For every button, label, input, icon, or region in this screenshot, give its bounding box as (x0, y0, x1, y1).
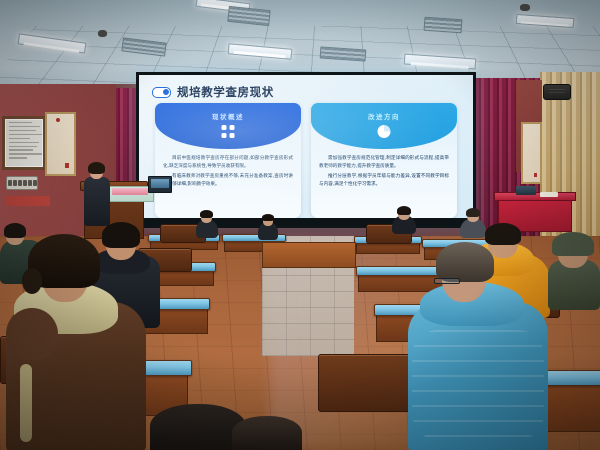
attendee-black-coat-2 (196, 210, 218, 236)
card-paragraph: 有临床教师对教学查房重视不够,未充分准备教案,查房时讲解不够详细,影响教学效果。 (163, 173, 293, 190)
presenter-laptop (148, 176, 172, 193)
calligraphy-scroll-right (521, 122, 542, 184)
aisle-step (262, 242, 356, 268)
attendee-back-center (258, 214, 278, 238)
toggle-pill-icon (152, 87, 171, 98)
wall-speaker-right (543, 84, 571, 100)
attendee-puffer-quilting (412, 330, 544, 440)
attendee-hair (436, 242, 494, 282)
attendee-olive-cap (548, 236, 600, 306)
attendee-hair (200, 210, 213, 218)
attendee-hood-outer (6, 308, 58, 360)
card-body: 需加强教学查房规范化管理,制定详细的形式与流程,提高带教老师的教学能力,提升教学… (319, 155, 449, 191)
card-paragraph: 目前中医规培教学查房存在部分问题,如部分教学查房形式化,缺乏深度与系统性,导致学… (163, 155, 293, 172)
attendee-coat-stripe (20, 364, 32, 442)
attendee-brown-coat (6, 246, 146, 450)
attendee-hair (4, 223, 26, 238)
attendee-black-right (392, 206, 416, 232)
card-header-band: 改进方向 (311, 103, 457, 149)
pie-chart-icon (378, 125, 391, 138)
ceiling-speaker (98, 30, 107, 37)
lectern-banner (112, 188, 148, 195)
attendee-hair (102, 222, 140, 248)
card-body: 目前中医规培教学查房存在部分问题,如部分教学查房形式化,缺乏深度与系统性,导致学… (163, 155, 293, 191)
slide-card-current-status: 现状概述 目前中医规培教学查房存在部分问题,如部分教学查房形式化,缺乏深度与系统… (155, 103, 301, 218)
attendee-hair (466, 208, 480, 217)
foreground-head-center (232, 416, 302, 450)
ceiling-sprinkler (520, 4, 530, 11)
card-paragraph: 推行分层教学,根据学员年级与能力差异,设置不同教学目标与内容,满足个性化学习需求… (319, 173, 449, 190)
photo-scene: 规培教学查房现状 现状概述 目前中医规培教学查房存在部分问题,如部分教学查房形式… (0, 0, 600, 450)
speaker-at-podium (84, 164, 110, 226)
back-table-papers (540, 192, 558, 197)
eyeglasses-icon (434, 278, 460, 284)
four-dot-grid-icon (222, 125, 235, 138)
av-control-panel[interactable] (6, 176, 38, 190)
attendee-hair-bun (22, 268, 42, 294)
ceiling-vent-2 (227, 6, 270, 26)
card-header-label: 改进方向 (311, 111, 457, 121)
ceiling-vent-4 (424, 17, 463, 34)
slide-title-row: 规培教学查房现状 (152, 84, 274, 100)
notice-board (2, 116, 46, 170)
attendee-hair (397, 206, 411, 215)
presentation-slide: 规培教学查房现状 现状概述 目前中医规培教学查房存在部分问题,如部分教学查房形式… (139, 75, 473, 218)
card-header-band: 现状概述 (155, 103, 301, 149)
wall-red-plaque (6, 196, 50, 206)
calligraphy-scroll-left (45, 112, 76, 176)
attendee-hair (262, 214, 274, 221)
slide-title: 规培教学查房现状 (177, 84, 274, 100)
presenter-body (84, 177, 110, 226)
projection-screen: 规培教学查房现状 现状概述 目前中医规培教学查房存在部分问题,如部分教学查房形式… (136, 72, 476, 228)
attendee-hair (485, 223, 521, 245)
back-table-laptop (516, 186, 536, 195)
card-header-label: 现状概述 (155, 111, 301, 121)
attendee-teal-puffer (408, 252, 548, 450)
presenter-hair (88, 162, 105, 174)
card-paragraph: 需加强教学查房规范化管理,制定详细的形式与流程,提高带教老师的教学能力,提升教学… (319, 155, 449, 172)
attendee-cap (552, 232, 594, 256)
slide-card-improvement-direction: 改进方向 需加强教学查房规范化管理,制定详细的形式与流程,提高带教老师的教学能力… (311, 103, 457, 218)
